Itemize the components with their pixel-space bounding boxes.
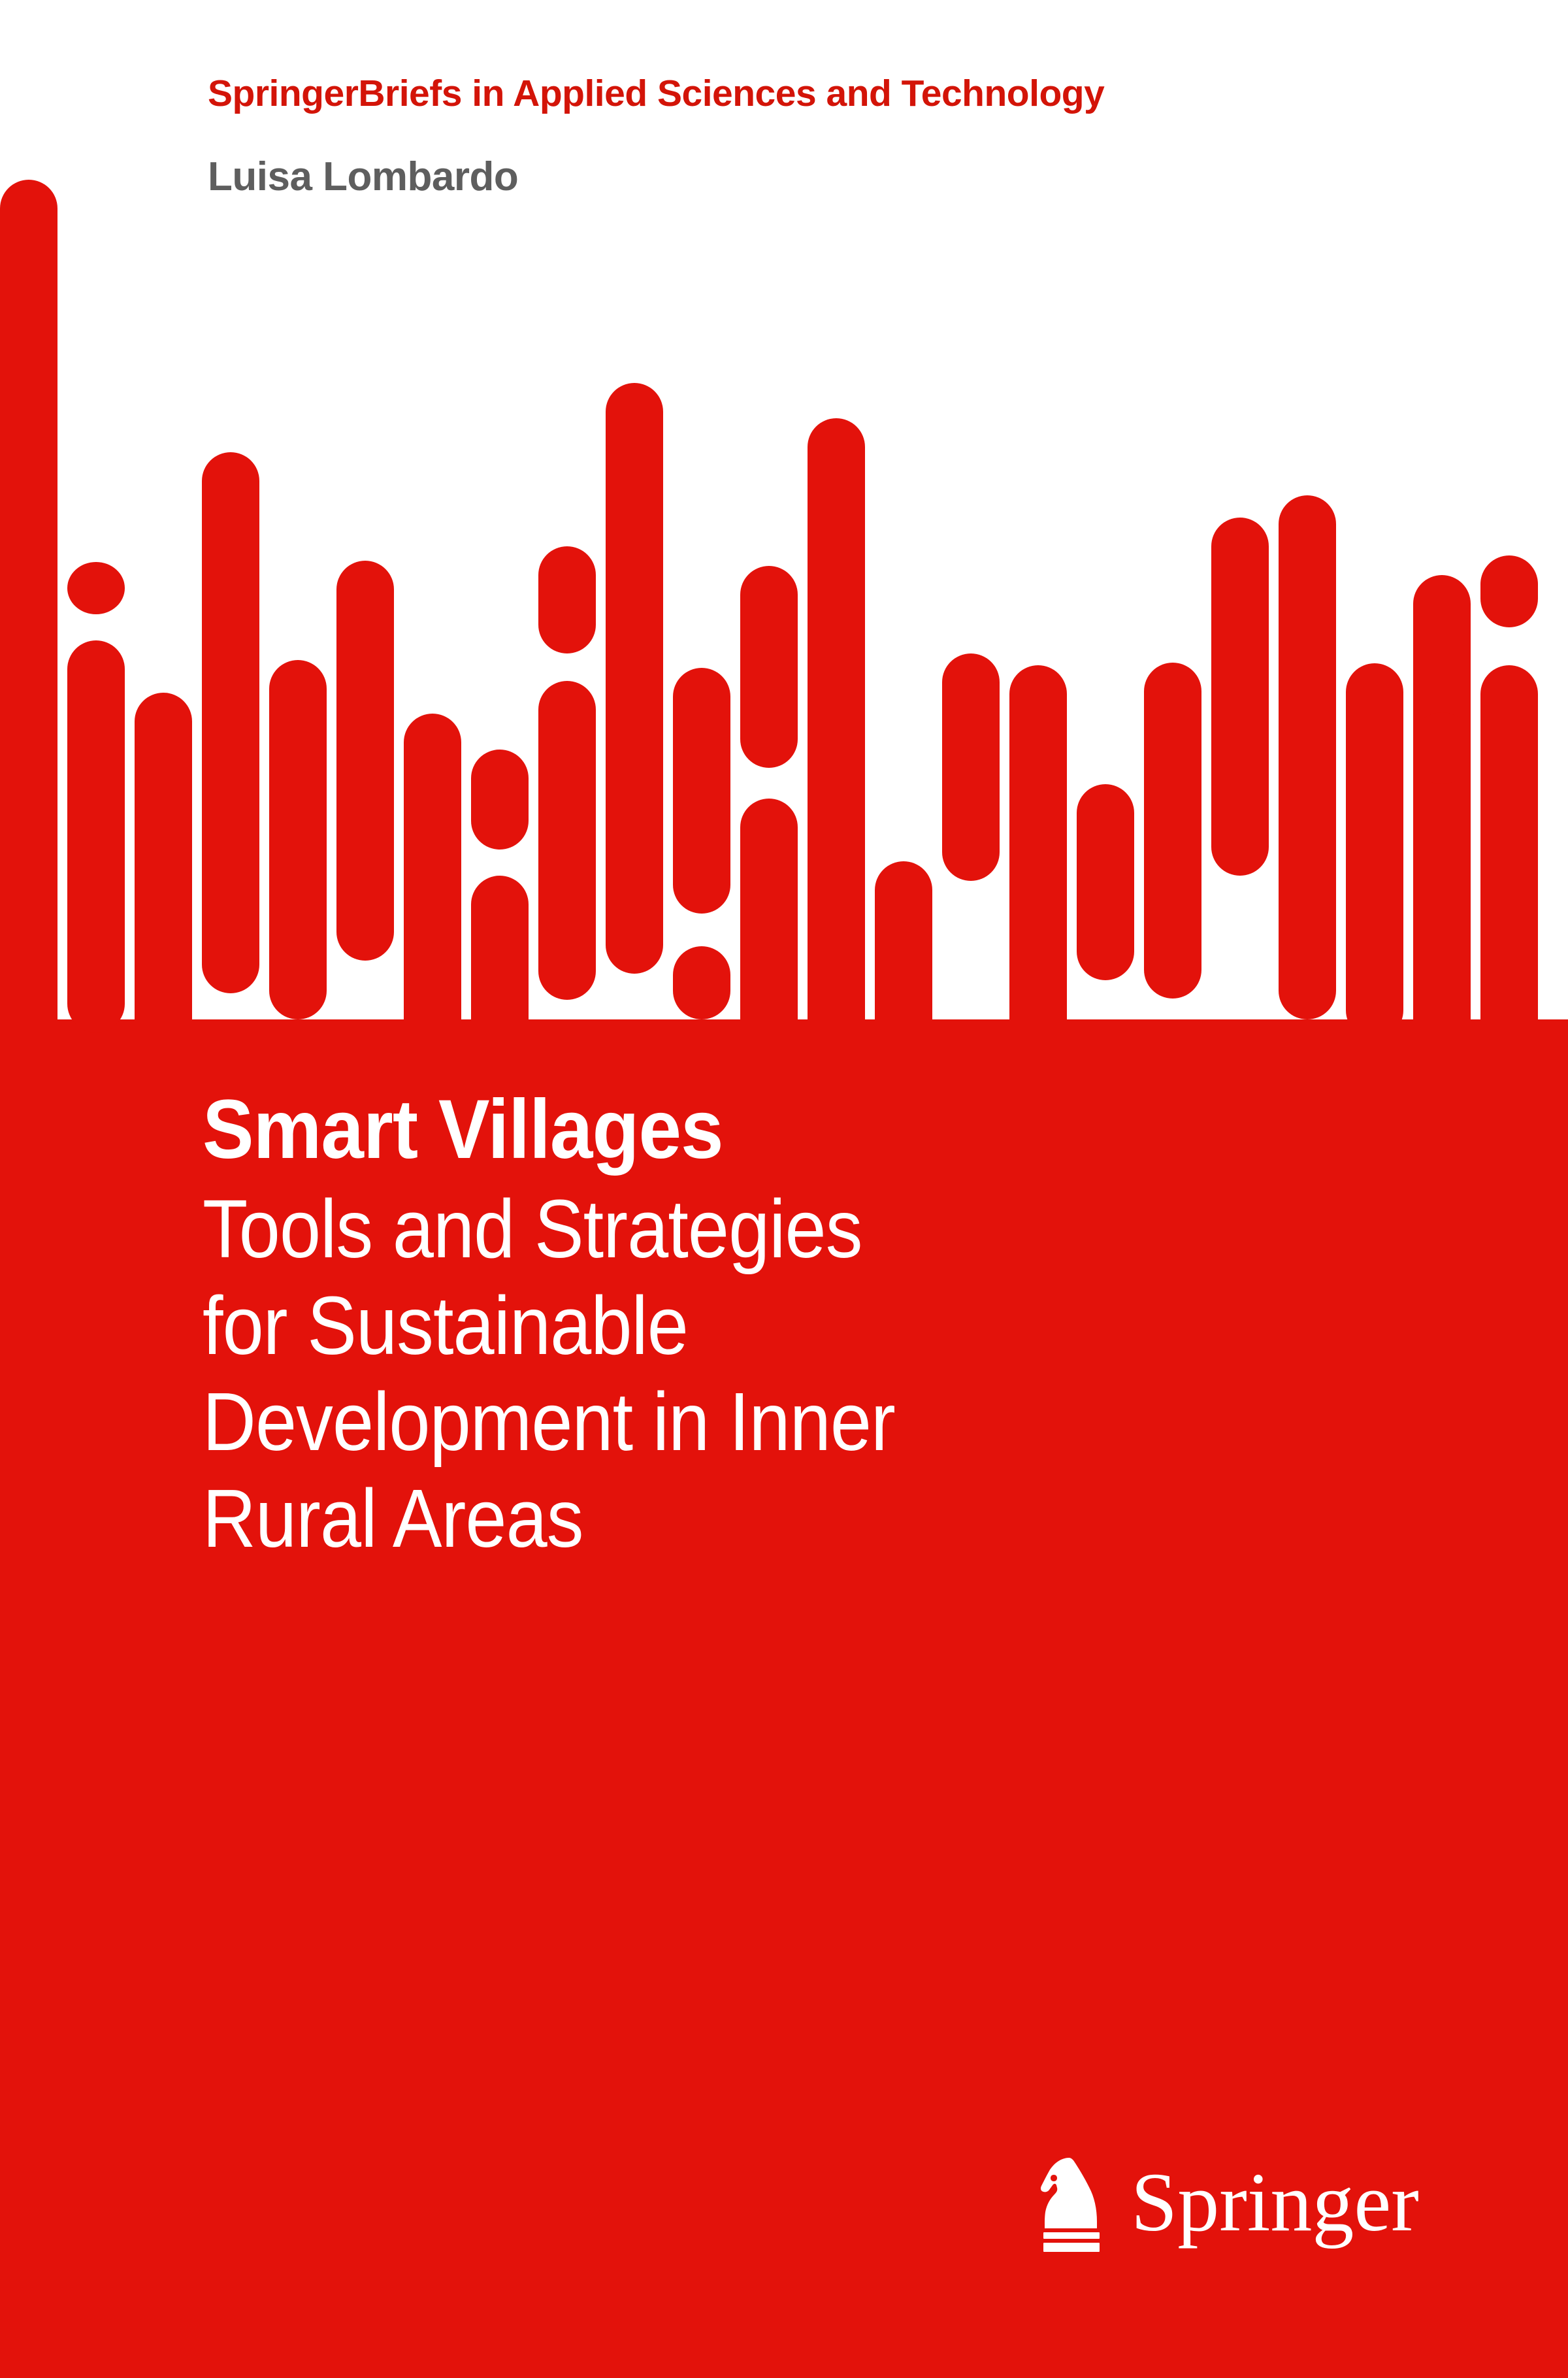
wave-bar [538,681,596,1000]
book-cover: SpringerBriefs in Applied Sciences and T… [0,0,1568,2378]
wave-bar [1144,663,1201,999]
wave-bar [0,180,57,1124]
wave-bar [269,660,327,1019]
springer-logo: Springer [1037,2156,1429,2281]
wave-bar [606,383,663,974]
wave-bar [673,668,730,914]
subtitle-line-1: Tools and Strategies [203,1181,1232,1277]
wave-bar [67,640,125,1032]
wave-bar [538,546,596,653]
subtitle-line-4: Rural Areas [203,1470,1232,1566]
wave-bar [336,561,394,961]
wave-bar [942,653,1000,881]
wave-bar [1211,518,1269,876]
publisher-name: Springer [1131,2160,1419,2244]
wave-bar [1077,784,1134,980]
book-subtitle: Tools and Strategies for Sustainable Dev… [203,1181,1232,1566]
wave-bar [202,452,259,993]
wave-bar [1346,663,1403,1039]
title-block: Smart Villages Tools and Strategies for … [203,1082,1346,1566]
wave-bar [471,750,529,850]
wave-bar [808,418,865,1124]
subtitle-line-2: for Sustainable [203,1278,1232,1374]
wave-bar [1279,495,1336,1019]
wave-bar [67,562,125,614]
series-title: SpringerBriefs in Applied Sciences and T… [208,72,1104,115]
wave-bar [1480,555,1538,627]
book-main-title: Smart Villages [203,1082,1254,1178]
wave-bar [673,946,730,1019]
author-name: Luisa Lombardo [208,154,518,200]
wave-bar [1413,712,1471,784]
subtitle-line-3: Development in Inner [203,1374,1232,1470]
wave-bar [740,566,798,768]
springer-knight-icon [1037,2156,1109,2254]
